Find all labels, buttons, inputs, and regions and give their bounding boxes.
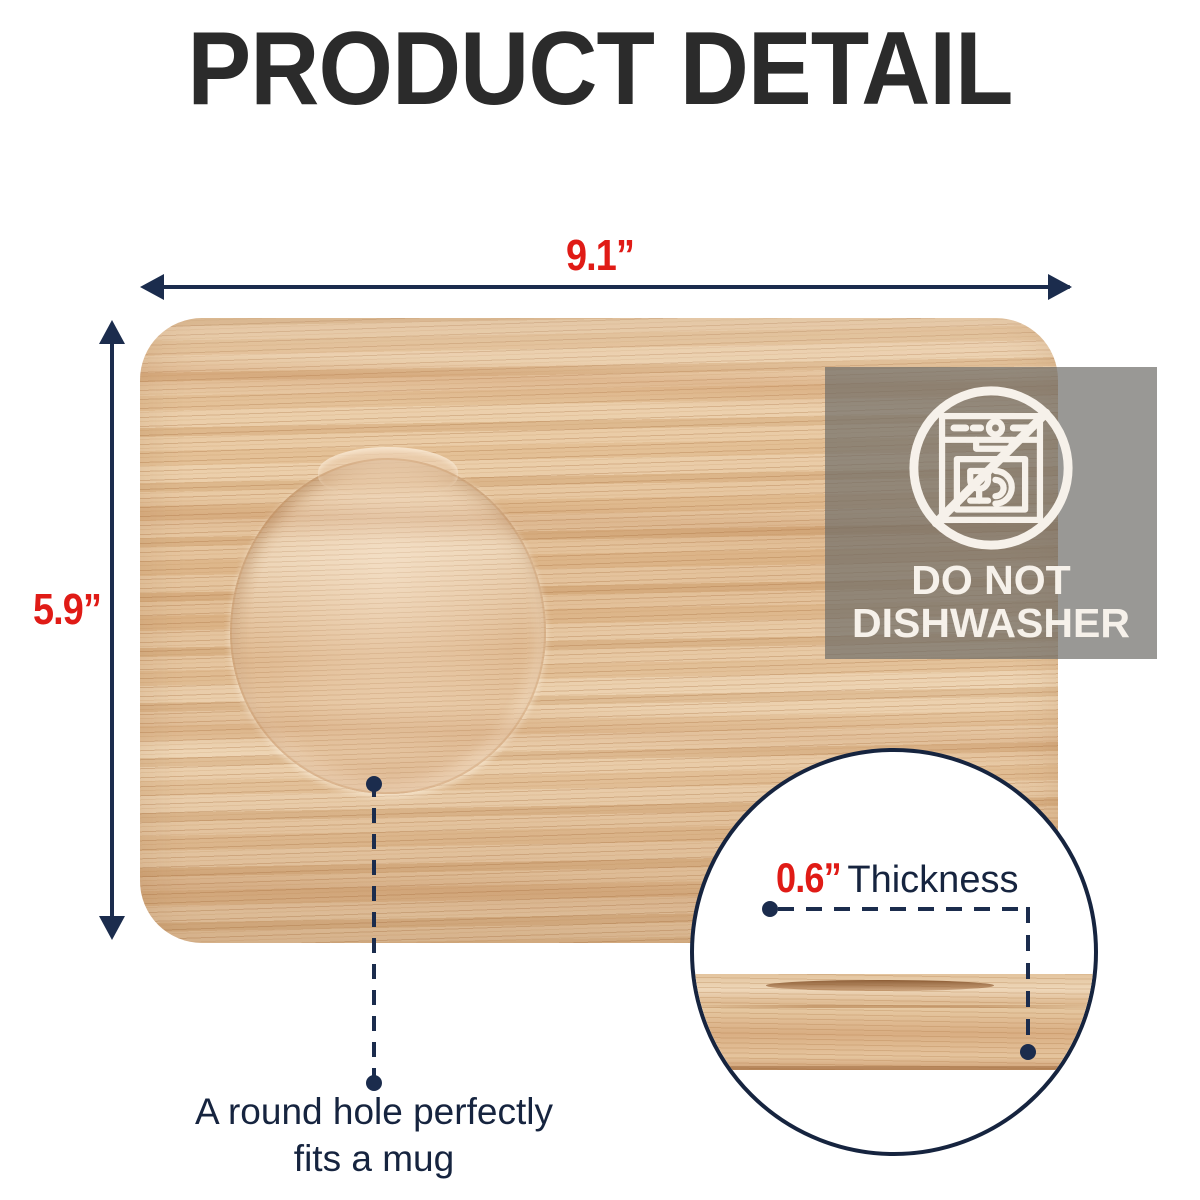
care-instruction-text: DO NOT DISHWASHER — [852, 559, 1130, 645]
width-arrow-left-head — [140, 274, 164, 300]
height-arrow-top-head — [99, 320, 125, 344]
mug-recess-hole — [230, 458, 546, 794]
thickness-value: 0.6” — [776, 855, 841, 901]
board-side-view-bottom-edge — [690, 1066, 1098, 1070]
thickness-leader-end-dot — [1020, 1044, 1036, 1060]
width-dimension-line — [156, 285, 1070, 289]
height-arrow-bottom-head — [99, 916, 125, 940]
hole-leader-line — [372, 782, 376, 1088]
board-side-view — [690, 974, 1098, 1070]
care-instruction-panel: DO NOT DISHWASHER — [825, 367, 1157, 659]
height-dimension-line — [110, 336, 114, 926]
thickness-word: Thickness — [847, 859, 1018, 901]
page-title: PRODUCT DETAIL — [48, 14, 1152, 124]
width-arrow-right-head — [1048, 274, 1072, 300]
no-dishwasher-icon — [902, 379, 1080, 557]
height-dimension-label: 5.9” — [28, 586, 105, 634]
thickness-magnifier-inset — [690, 748, 1098, 1156]
product-detail-infographic: PRODUCT DETAIL 9.1” 5.9” — [0, 0, 1200, 1200]
width-dimension-label: 9.1” — [84, 232, 1116, 280]
thickness-label: 0.6”Thickness — [776, 855, 1018, 911]
thickness-leader-vertical — [1026, 907, 1030, 1050]
hole-callout-caption: A round hole perfectly fits a mug — [118, 1088, 630, 1182]
